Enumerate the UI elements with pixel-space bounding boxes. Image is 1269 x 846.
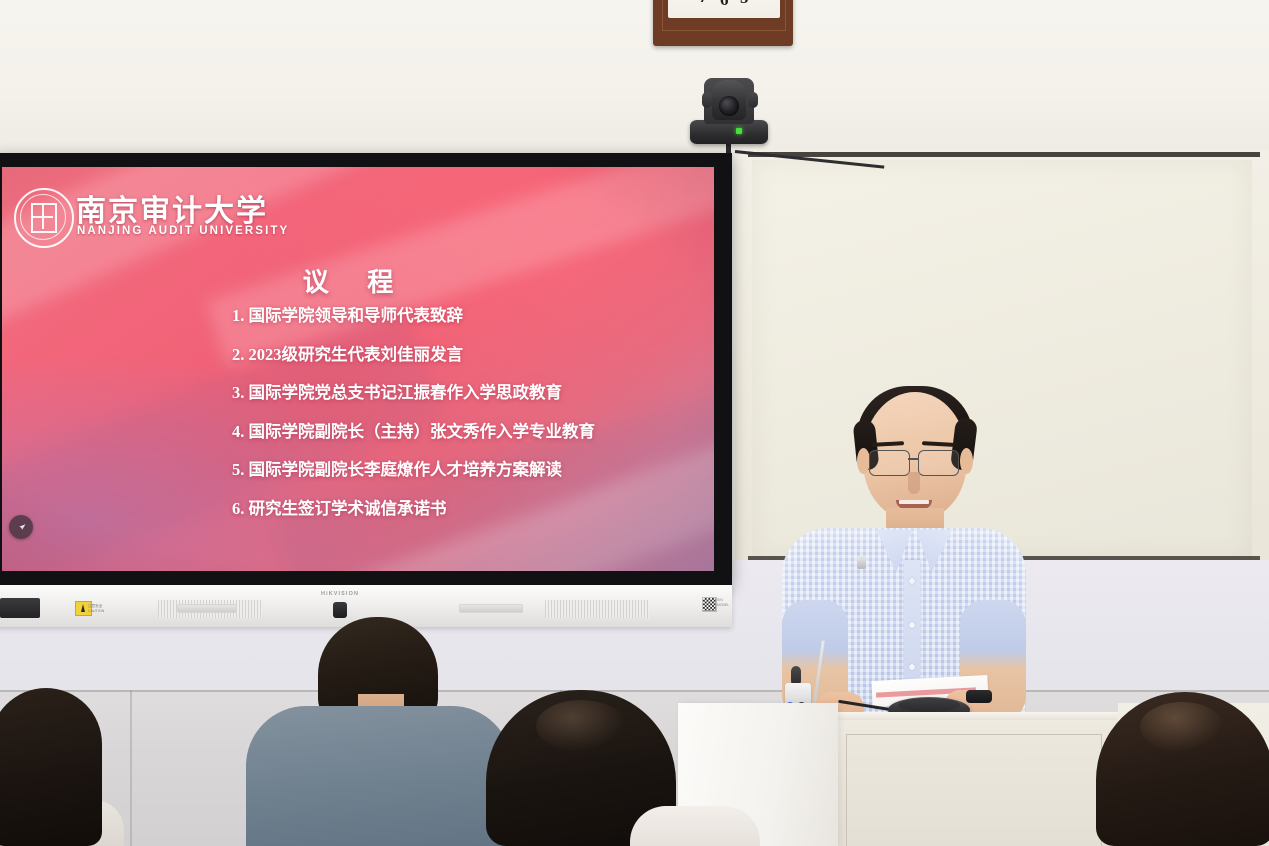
power-button[interactable]: [333, 602, 347, 618]
shirt-button: [909, 578, 915, 584]
speaker-ear-right: [960, 448, 973, 474]
agenda-item: 4. 国际学院副院长（主持）张文秀作入学专业教育: [232, 424, 692, 441]
university-logo: 南京审计大学 NANJING AUDIT UNIVERSITY: [14, 184, 244, 256]
audience-member-4-hair: [0, 688, 102, 846]
agenda-item: 2. 2023级研究生代表刘佳丽发言: [232, 347, 692, 364]
display-ports[interactable]: [0, 598, 40, 618]
clock-number-5: 5: [740, 0, 749, 8]
podium-panel-inset: [846, 734, 1102, 846]
agenda-item: 5. 国际学院副院长李庭燎作人才培养方案解读: [232, 462, 692, 479]
logo-chinese-name: 南京审计大学: [76, 186, 268, 230]
serial-label: S/NMODEL: [717, 598, 729, 609]
audience-member-2-hair-highlight: [536, 700, 626, 752]
audience-member-5-shoulder: [630, 806, 760, 846]
speaker-grille-right: [545, 600, 649, 618]
vent-slot-left: [177, 604, 237, 613]
photo-scene: 8 7 6 5 4: [0, 0, 1269, 846]
wall-clock: 8 7 6 5 4: [653, 0, 793, 46]
clock-number-6: 6: [720, 0, 729, 10]
caution-text: 注意安全CAUTION: [88, 604, 104, 615]
whiteboard-frame-top: [748, 152, 1260, 157]
upper-wall: [0, 0, 1269, 160]
audience-member-3-hair-highlight: [1140, 702, 1224, 752]
qr-code-label-icon: [702, 597, 717, 612]
camera-status-led: [736, 128, 742, 134]
floating-toolbar-button[interactable]: [9, 515, 33, 539]
glasses-lens-left-icon: [869, 450, 910, 476]
wainscot-seam: [130, 690, 132, 846]
agenda-item: 6. 研究生签订学术诚信承诺书: [232, 501, 692, 518]
seal-glyph-icon: [31, 203, 57, 233]
shirt-button: [909, 622, 915, 628]
glasses-lens-right-icon: [918, 450, 959, 476]
camera-lens-icon: [719, 96, 739, 116]
pocket-pen: [857, 556, 866, 569]
display-brand-logo: HiKVISION: [321, 591, 359, 597]
wristwatch: [966, 690, 992, 703]
agenda-item: 3. 国际学院党总支书记江振春作入学思政教育: [232, 385, 692, 402]
clock-face: 8 7 6 5 4: [668, 0, 780, 18]
shirt-button: [909, 664, 915, 670]
logo-english-name: NANJING AUDIT UNIVERSITY: [77, 225, 289, 237]
whiteboard: [752, 160, 1252, 560]
cursor-arrow-icon: [15, 521, 28, 534]
speaker-nose: [908, 472, 920, 494]
speaker-teeth: [899, 500, 929, 504]
slide-title: 议 程: [0, 262, 712, 299]
audience-member-1-body: [246, 706, 512, 846]
speakerphone-top: [898, 698, 960, 712]
camera-pivot-left: [702, 92, 712, 108]
clock-number-7: 7: [699, 0, 708, 7]
camera-pivot-right: [748, 92, 758, 108]
wainscot-trim: [0, 690, 1269, 692]
podium-top-surface: [828, 712, 1118, 720]
clock-frame: 8 7 6 5 4: [662, 0, 786, 31]
vent-slot-right: [459, 604, 523, 613]
agenda-list: 1. 国际学院领导和导师代表致辞 2. 2023级研究生代表刘佳丽发言 3. 国…: [232, 308, 692, 539]
agenda-item: 1. 国际学院领导和导师代表致辞: [232, 308, 692, 325]
glasses-bridge-icon: [908, 458, 918, 460]
